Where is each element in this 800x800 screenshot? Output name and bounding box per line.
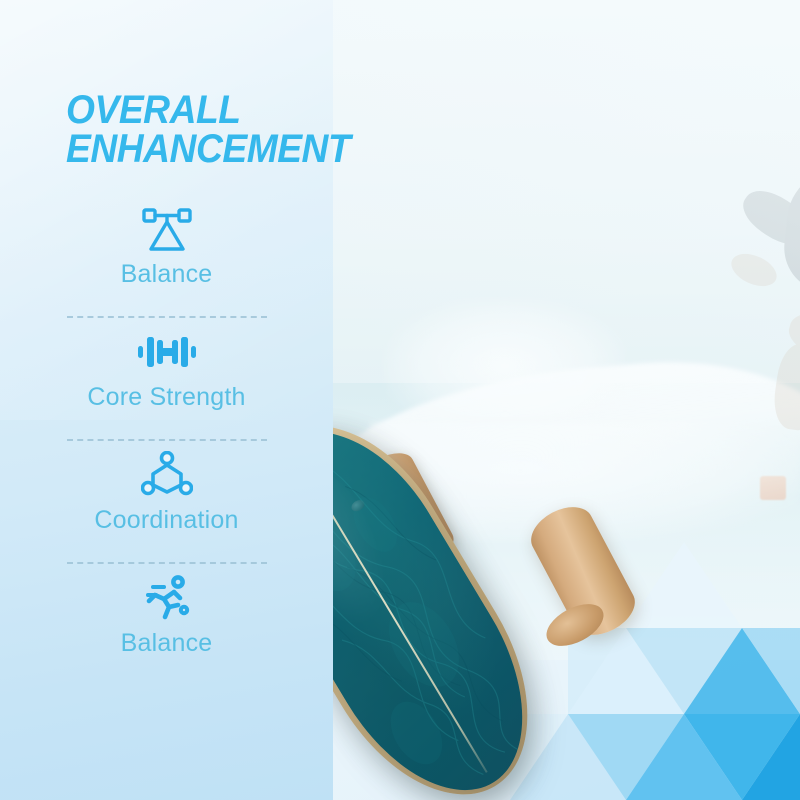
feature-label: Balance	[121, 629, 213, 658]
molecule-node-icon	[141, 450, 193, 500]
page-title: OVERALL ENHANCEMENT	[66, 52, 345, 209]
headline-line-1: OVERALL	[66, 88, 240, 132]
running-person-icon	[140, 573, 194, 623]
feature-item-core-strength: Core Strength	[0, 319, 333, 439]
feature-label: Coordination	[94, 506, 238, 535]
product-marketing-poster: OVERALL ENHANCEMENT Balance	[0, 0, 800, 800]
feature-label: Balance	[121, 260, 213, 289]
feature-label: Core Strength	[87, 383, 245, 412]
feature-item-coordination: Coordination	[0, 442, 333, 562]
dumbbell-icon	[137, 327, 197, 377]
balance-scale-icon	[140, 204, 194, 254]
feature-item-balance-2: Balance	[0, 565, 333, 685]
feature-list: Balance Core Strength	[0, 196, 333, 685]
headline-line-2: ENHANCEMENT	[66, 130, 345, 169]
feature-item-balance: Balance	[0, 196, 333, 316]
